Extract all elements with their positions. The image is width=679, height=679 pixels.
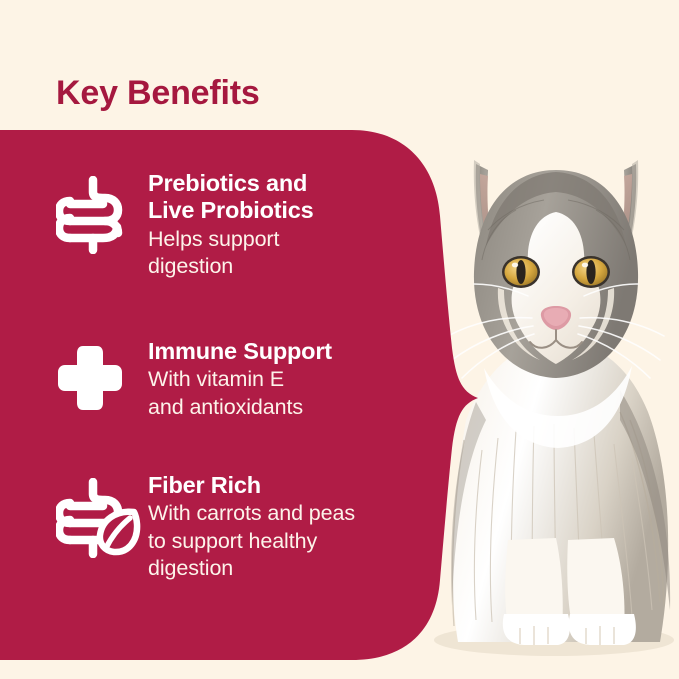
benefit-text: Fiber Rich With carrots and peas to supp… — [148, 472, 355, 582]
benefit-text: Prebiotics and Live Probiotics Helps sup… — [148, 170, 313, 280]
benefit-item-fiber-rich: Fiber Rich With carrots and peas to supp… — [56, 472, 355, 582]
benefits-panel: Prebiotics and Live Probiotics Helps sup… — [0, 130, 500, 660]
plus-icon — [56, 338, 148, 412]
benefit-title: Prebiotics and Live Probiotics — [148, 170, 313, 225]
benefits-list: Prebiotics and Live Probiotics Helps sup… — [0, 130, 470, 660]
benefit-text: Immune Support With vitamin E and antiox… — [148, 338, 332, 421]
benefit-description: With vitamin E and antioxidants — [148, 366, 332, 420]
benefit-description: With carrots and peas to support healthy… — [148, 500, 355, 581]
intestine-icon — [56, 170, 148, 254]
key-benefits-graphic: Prebiotics and Live Probiotics Helps sup… — [0, 0, 679, 679]
benefit-item-prebiotics: Prebiotics and Live Probiotics Helps sup… — [56, 170, 313, 280]
benefit-description: Helps support digestion — [148, 226, 313, 280]
intestine-leaf-icon — [56, 472, 148, 558]
page-title: Key Benefits — [56, 75, 260, 112]
benefit-title: Immune Support — [148, 338, 332, 365]
benefit-item-immune-support: Immune Support With vitamin E and antiox… — [56, 338, 332, 421]
benefit-title: Fiber Rich — [148, 472, 355, 499]
